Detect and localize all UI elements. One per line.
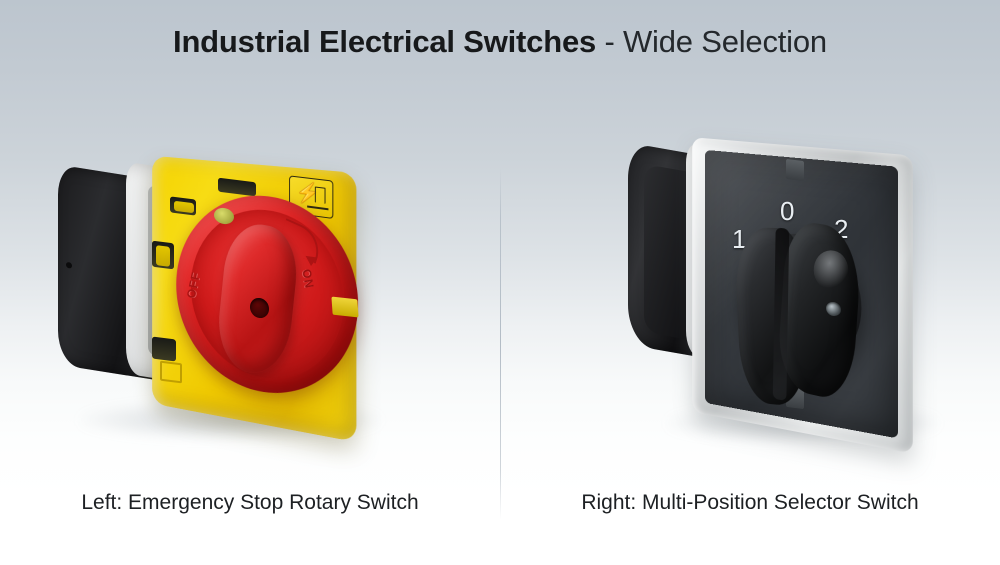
caption-right: Right: Multi-Position Selector Switch [500, 491, 1000, 515]
bezel-slot-lower-left [152, 337, 176, 362]
vertical-divider [500, 168, 501, 520]
faceplate-notch-top [786, 159, 804, 181]
screenshot-canvas: Industrial Electrical Switches - Wide Se… [0, 0, 1000, 565]
caption-left: Left: Emergency Stop Rotary Switch [0, 491, 500, 515]
plug-icon [315, 186, 326, 203]
page-title: Industrial Electrical Switches - Wide Se… [0, 26, 1000, 57]
yellow-tab [331, 297, 358, 318]
knob-spine [773, 227, 789, 400]
page-title-bold: Industrial Electrical Switches [173, 24, 596, 59]
square-marking [160, 361, 182, 384]
page-title-light: - Wide Selection [596, 24, 827, 59]
product-image-selector-switch: EL 1 0 2 [628, 142, 948, 452]
plug-icon-base [307, 206, 328, 210]
position-label-0: 0 [780, 196, 794, 227]
product-image-emergency-stop-switch: EL ⚡ OFF ON [52, 150, 412, 450]
bezel-slot-left-fill [156, 245, 170, 267]
